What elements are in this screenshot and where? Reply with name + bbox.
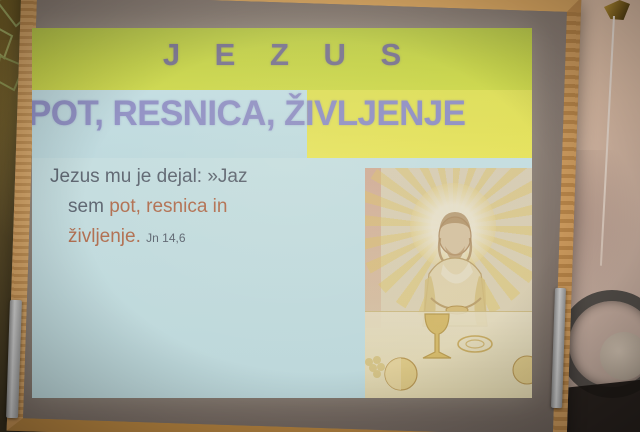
slide-subtitle: POT, RESNICA, ŽIVLJENJE [32, 94, 532, 134]
slide-image [365, 168, 532, 398]
body-line-2: sem pot, resnica in [50, 192, 350, 222]
ring-object-center [600, 332, 640, 380]
body-line-2-highlight: pot, resnica in [109, 196, 227, 217]
body-line-2-plain: sem [68, 196, 109, 217]
body-line-1: Jezus mu je dejal: »Jaz [50, 166, 248, 187]
image-washout-overlay [365, 168, 532, 398]
slide-title: J E Z U S [32, 37, 532, 73]
scripture-citation: Jn 14,6 [146, 231, 185, 245]
slide-body-text: Jezus mu je dejal: »Jaz sem pot, resnica… [50, 162, 350, 253]
screenshot-root: J E Z U S POT, RESNICA, ŽIVLJENJE Jezus … [0, 0, 640, 432]
body-line-3: življenje. Jn 14,6 [50, 222, 350, 253]
body-line-3-highlight: življenje. [68, 226, 141, 247]
presentation-slide: J E Z U S POT, RESNICA, ŽIVLJENJE Jezus … [32, 28, 532, 398]
